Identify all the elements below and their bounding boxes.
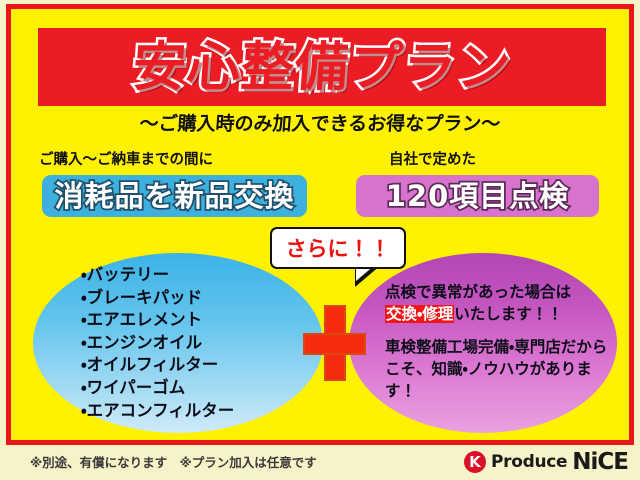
promo-banner: 安心整備プラン 〜ご購入時のみ加入できるお得なプラン〜 ご購入〜ご納車までの間に… <box>0 0 640 480</box>
logo-produce-text: Produce <box>491 452 567 472</box>
title-banner: 安心整備プラン <box>38 28 606 106</box>
inspection-paragraph2: 車検整備工場完備・専門店だからこそ、知識・ノウハウがあります！ <box>385 338 607 400</box>
pill-inspection-label: 120項目点検 <box>386 182 570 211</box>
list-item: ・エアコンフィルター <box>81 400 234 423</box>
kicker-left: ご購入〜ご納車までの間に <box>39 148 213 169</box>
inspection-line1-post: いたします！！ <box>454 305 563 323</box>
pill-consumables: 消耗品を新品交換 <box>42 175 307 217</box>
inspection-description: 点検で異常があった場合は 交換・修理いたします！！ 車検整備工場完備・専門店だか… <box>385 281 613 402</box>
plus-icon-horizontal <box>303 333 366 355</box>
page-title: 安心整備プラン <box>131 41 513 94</box>
paragraph-gap <box>385 325 613 336</box>
list-item: ・バッテリー <box>81 264 234 287</box>
subtitle: 〜ご購入時のみ加入できるお得なプラン〜 <box>10 109 630 136</box>
yellow-field: 安心整備プラン 〜ご購入時のみ加入できるお得なプラン〜 ご購入〜ご納車までの間に… <box>11 9 629 440</box>
list-item: ・エンジンオイル <box>81 332 234 355</box>
list-item: ・オイルフィルター <box>81 354 234 377</box>
red-frame: 安心整備プラン 〜ご購入時のみ加入できるお得なプラン〜 ご購入〜ご納車までの間に… <box>6 4 634 445</box>
kicker-right: 自社で定めた <box>389 148 476 169</box>
inspection-highlight: 交換・修理 <box>385 305 454 323</box>
list-item: ・ブレーキパッド <box>81 287 234 310</box>
consumables-list: ・バッテリー ・ブレーキパッド ・エアエレメント ・エンジンオイル ・オイルフィ… <box>81 264 234 422</box>
speech-bubble: さらに！！ <box>270 227 406 269</box>
disclaimer-note: ※別途、有償になります ※プラン加入は任意です <box>30 452 317 471</box>
inspection-line1-pre: 点検で異常があった場合は <box>385 283 571 301</box>
brand-logo: K Produce NiCE <box>464 450 628 474</box>
logo-nice-text: NiCE <box>572 451 628 474</box>
pill-inspection: 120項目点検 <box>356 175 599 217</box>
list-item: ・エアエレメント <box>81 309 234 332</box>
list-item: ・ワイパーゴム <box>81 377 234 400</box>
plus-icon <box>303 305 366 381</box>
pill-consumables-label: 消耗品を新品交換 <box>54 182 294 211</box>
speech-bubble-text: さらに！！ <box>286 233 391 263</box>
k-mark-icon: K <box>464 451 486 473</box>
